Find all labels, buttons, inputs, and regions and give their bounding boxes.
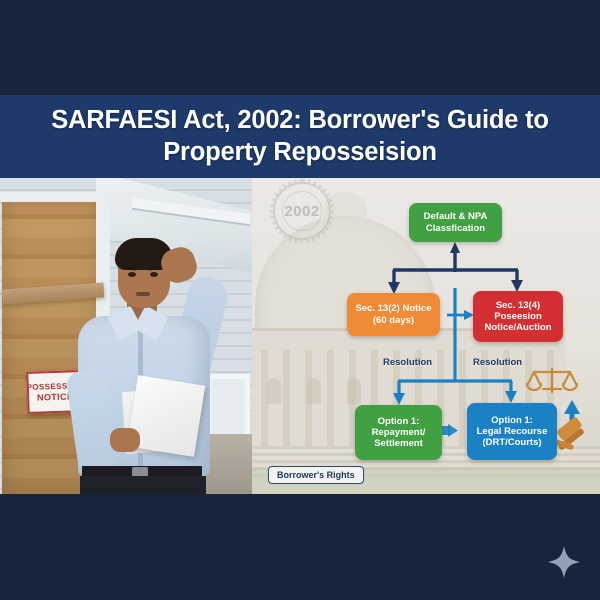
flow-node-sec-13-4[interactable]: Sec. 13(4) Poseesion Notice/Auction <box>473 291 563 342</box>
node-line: Option 1: <box>378 416 420 427</box>
seal-year-label: 2002 <box>284 203 319 220</box>
node-line: Sec. 13(4) <box>496 300 540 311</box>
edge-label-resolution-left: Resolution <box>383 357 432 368</box>
node-line: Sec. 13(2) Notice <box>355 303 431 314</box>
node-line: Legal Recourse <box>477 426 548 437</box>
node-line: Classfication <box>426 223 485 234</box>
node-line: Settlement <box>374 438 423 449</box>
flow-node-option-repayment[interactable]: Option 1: Repayment/ Settlement <box>355 405 442 460</box>
node-line: Option 1: <box>491 415 533 426</box>
sparkle-icon <box>548 546 580 578</box>
flow-node-sec-13-2[interactable]: Sec. 13(2) Notice (60 days) <box>347 293 440 336</box>
flow-node-default-npa[interactable]: Default & NPA Classfication <box>409 203 502 242</box>
node-line: Poseesion <box>494 311 542 322</box>
borrowers-rights-chip[interactable]: Borrower's Rights <box>268 466 364 484</box>
node-line: Default & NPA <box>424 211 488 222</box>
flow-node-option-legal[interactable]: Option 1: Legal Recourse (DRT/Courts) <box>467 403 557 460</box>
flowchart: Default & NPA Classfication Sec. 13(2) N… <box>0 0 600 316</box>
poster-canvas: SARFAESI Act, 2002: Borrower's Guide to … <box>0 0 600 600</box>
node-line: Notice/Auction <box>484 322 551 333</box>
node-line: Repayment/ <box>372 427 426 438</box>
edge-label-resolution-right: Resolution <box>473 357 522 368</box>
node-line: (DRT/Courts) <box>482 437 541 448</box>
node-line: (60 days) <box>373 315 414 326</box>
scales-of-justice-icon <box>527 369 577 392</box>
